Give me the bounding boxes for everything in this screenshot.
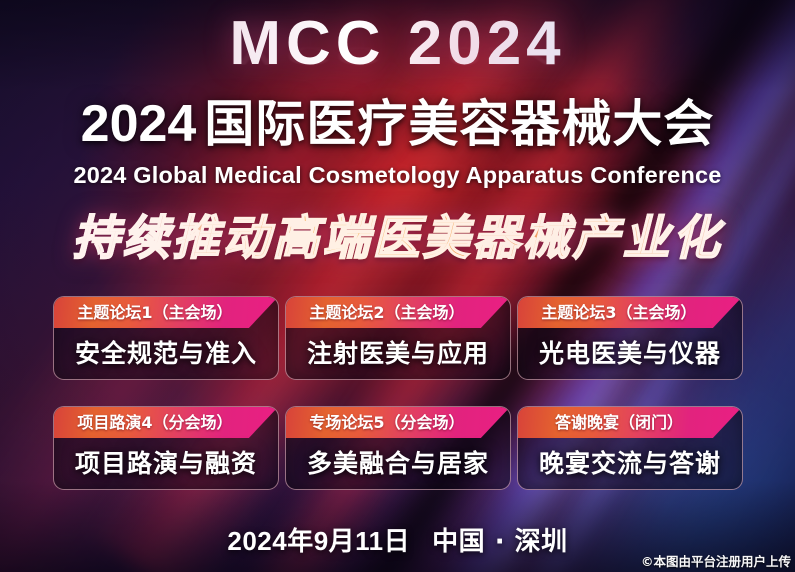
- conference-poster: MCC 2024 MCC 2024 2024国际医疗美容器械大会 2024 Gl…: [0, 0, 795, 572]
- forum-card-2-header: 主题论坛2（主会场）: [286, 297, 510, 328]
- forum-card-2-body-label: 注射医美与应用: [307, 338, 489, 370]
- forum-card-2-header-label: 主题论坛2（主会场）: [309, 303, 464, 323]
- forum-card-3-body: 光电医美与仪器: [518, 328, 742, 380]
- title-year: 2024: [81, 95, 197, 153]
- watermark-notice: ©本图由平台注册用户上传: [641, 553, 791, 570]
- forum-card-4-header: 项目路演4（分会场）: [54, 407, 278, 438]
- forum-card-5-body: 多美融合与居家: [286, 438, 510, 490]
- poster-content: MCC 2024 MCC 2024 2024国际医疗美容器械大会 2024 Gl…: [0, 0, 795, 572]
- wordmark-block: MCC 2024 MCC 2024: [0, 8, 795, 104]
- forum-card-2[interactable]: 主题论坛2（主会场） 注射医美与应用: [285, 296, 511, 380]
- forum-card-3[interactable]: 主题论坛3（主会场） 光电医美与仪器: [517, 296, 743, 380]
- slogan-calligraphy: 持续推动高端医美器械产业化: [73, 206, 723, 272]
- forum-card-1-header: 主题论坛1（主会场）: [54, 297, 278, 328]
- forum-card-1-body-label: 安全规范与准入: [75, 338, 257, 370]
- forum-card-3-header: 主题论坛3（主会场）: [518, 297, 742, 328]
- forum-card-5-header: 专场论坛5（分会场）: [286, 407, 510, 438]
- forum-card-4-header-label: 项目路演4（分会场）: [77, 413, 232, 433]
- forum-card-4-body: 项目路演与融资: [54, 438, 278, 490]
- forum-card-6[interactable]: 答谢晚宴（闭门） 晚宴交流与答谢: [517, 406, 743, 490]
- forum-card-3-header-label: 主题论坛3（主会场）: [541, 303, 696, 323]
- forum-card-4[interactable]: 项目路演4（分会场） 项目路演与融资: [53, 406, 279, 490]
- forum-card-grid: 主题论坛1（主会场） 安全规范与准入 主题论坛2（主会场） 注射医美与应用 主题…: [53, 296, 743, 490]
- forum-card-5[interactable]: 专场论坛5（分会场） 多美融合与居家: [285, 406, 511, 490]
- page-title-chinese: 2024国际医疗美容器械大会: [0, 95, 795, 153]
- page-subtitle-english: 2024 Global Medical Cosmetology Apparatu…: [0, 160, 795, 190]
- forum-card-6-header: 答谢晚宴（闭门）: [518, 407, 742, 438]
- forum-card-6-body-label: 晚宴交流与答谢: [539, 448, 721, 480]
- wordmark-mcc-2024: MCC 2024: [0, 8, 795, 80]
- event-date: 2024年9月11日: [227, 526, 410, 556]
- title-chinese-text: 国际医疗美容器械大会: [204, 95, 714, 153]
- forum-card-1-header-label: 主题论坛1（主会场）: [77, 303, 232, 323]
- forum-card-6-header-label: 答谢晚宴（闭门）: [555, 413, 683, 433]
- event-location: 中国 · 深圳: [432, 527, 567, 557]
- forum-card-3-body-label: 光电医美与仪器: [539, 338, 721, 370]
- forum-card-1[interactable]: 主题论坛1（主会场） 安全规范与准入: [53, 296, 279, 380]
- forum-card-4-body-label: 项目路演与融资: [75, 448, 257, 480]
- forum-card-1-body: 安全规范与准入: [54, 328, 278, 380]
- forum-card-2-body: 注射医美与应用: [286, 328, 510, 380]
- slogan-block: 持续推动高端医美器械产业化: [0, 206, 795, 278]
- forum-card-5-header-label: 专场论坛5（分会场）: [309, 413, 464, 433]
- forum-card-6-body: 晚宴交流与答谢: [518, 438, 742, 490]
- forum-card-5-body-label: 多美融合与居家: [307, 448, 489, 480]
